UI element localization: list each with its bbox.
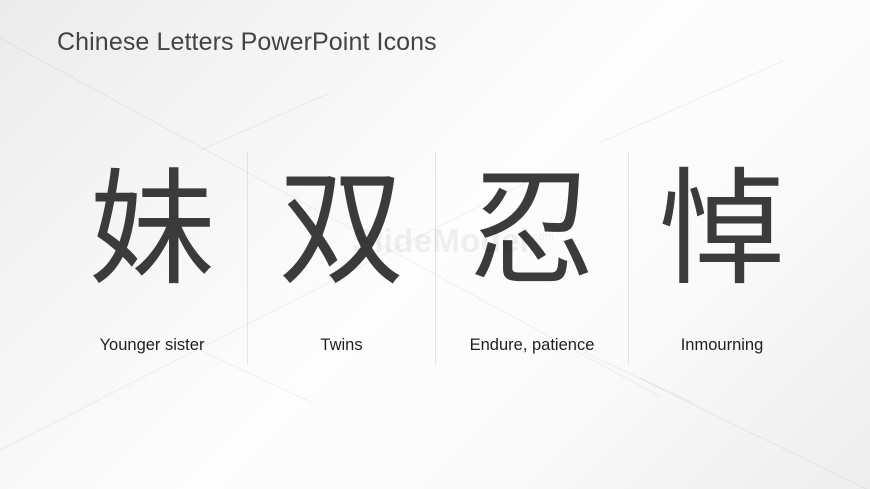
chinese-character-inmourning-icon: 悼 xyxy=(629,150,815,310)
icon-card[interactable]: 妹 Younger sister xyxy=(57,150,247,366)
icon-caption: Younger sister xyxy=(57,336,247,355)
chinese-character-younger-sister-icon: 妹 xyxy=(57,150,247,310)
chinese-character-twins-icon: 双 xyxy=(248,150,435,310)
icon-caption: Inmourning xyxy=(629,336,815,355)
icon-grid: 妹 Younger sister 双 Twins 忍 Endure, patie… xyxy=(0,0,870,489)
icon-card[interactable]: 悼 Inmourning xyxy=(629,150,815,366)
icon-card[interactable]: 忍 Endure, patience xyxy=(436,150,628,366)
column-divider xyxy=(628,152,629,365)
slide-canvas: Chinese Letters PowerPoint Icons 妹 Young… xyxy=(0,0,870,489)
icon-caption: Twins xyxy=(248,336,435,355)
icon-caption: Endure, patience xyxy=(436,336,628,355)
chinese-character-endure-patience-icon: 忍 xyxy=(436,150,628,310)
column-divider xyxy=(435,152,436,365)
column-divider xyxy=(247,152,248,365)
icon-card[interactable]: 双 Twins xyxy=(248,150,435,366)
